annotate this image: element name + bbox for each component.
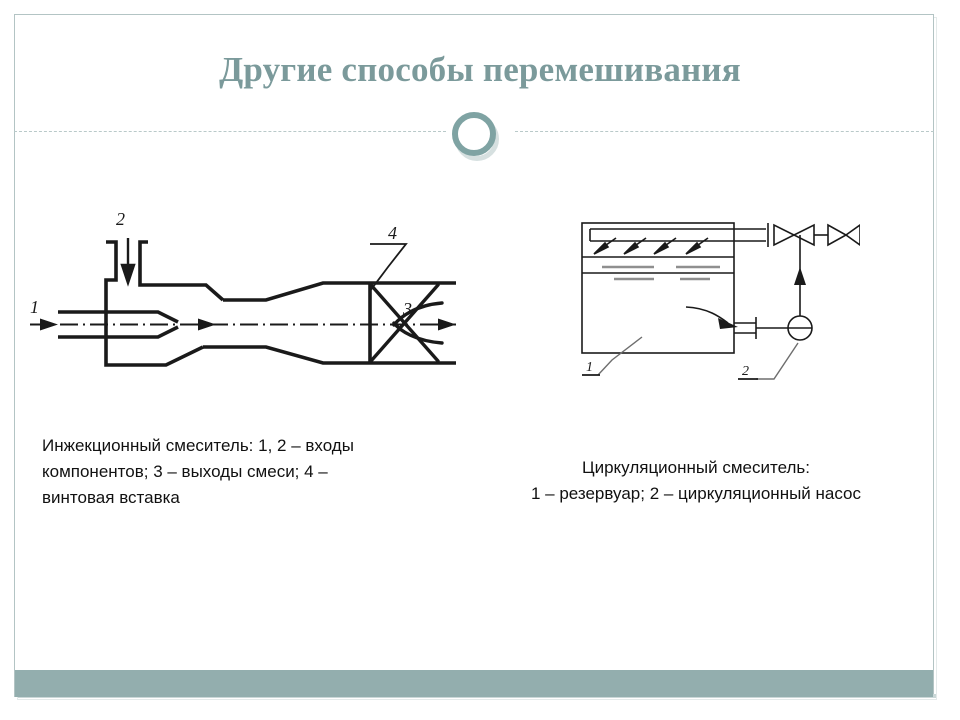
outlet-flow-arrowhead — [438, 319, 456, 331]
divider-rule-left — [14, 131, 446, 132]
page-title: Другие способы перемешивания — [0, 50, 960, 90]
label-3: 3 — [402, 299, 412, 319]
circulation-mixer-caption-line1: Циркуляционный смеситель: — [468, 455, 924, 481]
pump-label-2: 2 — [742, 364, 749, 379]
slide: Другие способы перемешивания — [0, 0, 960, 720]
circulation-mixer-caption-line2: 1 – резервуар; 2 – циркуляционный насос — [468, 481, 924, 507]
chamber-flow-arrowhead — [198, 319, 216, 331]
label2-leader-line — [756, 343, 798, 379]
inlet1-flow-arrowhead — [40, 319, 58, 331]
label-4: 4 — [388, 223, 397, 243]
valve1-left-wedge — [774, 225, 794, 245]
circulation-mixer-caption: Циркуляционный смеситель: 1 – резервуар;… — [468, 455, 924, 507]
inlet2-lower-wall — [106, 320, 203, 365]
valve2-left-wedge — [828, 225, 846, 245]
body-upper-contour — [223, 283, 370, 300]
inlet2-right-wall — [140, 242, 223, 300]
divider-rule-right — [515, 131, 934, 132]
valve1-right-wedge — [794, 225, 814, 245]
nozzle-lower — [58, 327, 178, 337]
body-lower-contour — [203, 347, 370, 363]
label-1: 1 — [30, 297, 39, 317]
injection-mixer-diagram: 1 2 3 4 — [18, 195, 458, 395]
bottom-accent-bar — [15, 670, 933, 697]
circulation-mixer-diagram: 1 2 — [560, 205, 860, 395]
riser-flow-arrowhead — [794, 267, 806, 285]
nozzle-upper — [58, 312, 178, 322]
valve2-right-wedge — [846, 225, 860, 245]
inlet2-arrowhead — [122, 265, 134, 283]
label1-leader-line — [598, 337, 642, 375]
inlet2-left-wall — [106, 242, 116, 320]
injection-mixer-caption: Инжекционный смеситель: 1, 2 – входы ком… — [42, 433, 362, 510]
label-2: 2 — [116, 209, 125, 229]
ring-ornament-icon — [452, 112, 496, 156]
tank-label-1: 1 — [586, 360, 593, 375]
